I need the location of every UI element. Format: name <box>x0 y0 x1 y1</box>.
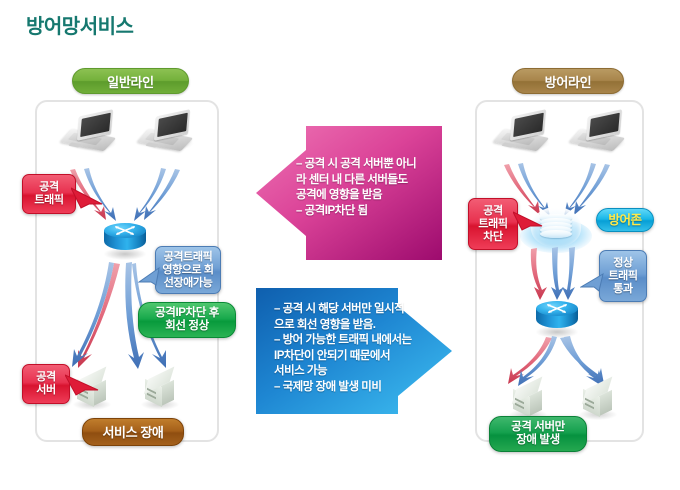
router-arrows-glyph <box>536 301 578 316</box>
callout-tail <box>65 374 101 396</box>
callout-tail <box>138 267 160 287</box>
left-section-header: 일반라인 <box>72 68 189 94</box>
server-icon <box>508 382 548 420</box>
laptop-screen-display <box>157 112 188 136</box>
pill-line: 장애 발생 <box>516 434 560 447</box>
callout-attack-server: 공격 서버 <box>22 364 70 404</box>
callout-tail <box>513 211 545 231</box>
callout-line: 공격 <box>483 205 502 218</box>
callout-line: 영향으로 회 <box>162 264 213 277</box>
callout-line: 공격 <box>36 371 55 384</box>
callout-line: 트래픽 <box>608 270 637 283</box>
banner-text: – 공격 시 해당 서버만 일시적 으로 회선 영향을 받음. – 방어 가능한… <box>274 302 424 395</box>
status-pill-after-ip-block: 공격IP차단 후 회선 정상 <box>138 302 236 338</box>
laptop-icon <box>497 112 553 154</box>
status-pill-service-outage: 서비스 장애 <box>82 418 184 446</box>
server-icon <box>140 372 180 410</box>
callout-tail <box>71 187 105 209</box>
router-icon <box>102 222 148 260</box>
right-section-header: 방어라인 <box>512 68 624 94</box>
banner-text: – 공격 시 공격 서버뿐 아니 라 센터 내 다른 서버들도 공격에 영향을 … <box>296 157 438 219</box>
callout-attack-traffic: 공격 트래픽 <box>22 174 76 214</box>
callout-attack-traffic-blocked: 공격 트래픽 차단 <box>468 198 518 250</box>
callout-line: 공격트래픽 <box>164 251 213 264</box>
pill-line: 서비스 장애 <box>102 426 163 439</box>
page-title: 방어망서비스 <box>26 10 133 39</box>
callout-tail <box>580 273 604 293</box>
callout-line: 정상 <box>613 257 632 270</box>
laptop-screen-display <box>589 112 620 136</box>
pill-line: 공격IP차단 후 <box>155 307 219 320</box>
laptop-icon <box>141 112 197 154</box>
status-pill-attack-server-only-outage: 공격 서버만 장애 발생 <box>489 416 587 452</box>
callout-line: 공격 <box>39 181 58 194</box>
callout-line: 차단 <box>483 231 502 244</box>
laptop-icon <box>573 112 629 154</box>
callout-line: 트래픽 <box>34 194 63 207</box>
diagram-canvas: 방어망서비스 일반라인 <box>0 0 680 490</box>
callout-line: 통과 <box>613 283 632 296</box>
pill-line: 회선 정상 <box>165 320 209 333</box>
laptop-screen-display <box>80 112 111 136</box>
defense-zone-pill: 방어존 <box>596 208 654 232</box>
banner-defense-line-summary: – 공격 시 해당 서버만 일시적 으로 회선 영향을 받음. – 방어 가능한… <box>256 288 452 414</box>
banner-normal-line-summary: – 공격 시 공격 서버뿐 아니 라 센터 내 다른 서버들도 공격에 영향을 … <box>256 126 442 260</box>
callout-line: 트래픽 <box>478 218 507 231</box>
router-icon <box>534 300 580 338</box>
callout-normal-traffic-pass: 정상 트래픽 통과 <box>599 250 647 302</box>
callout-line: 선장애가능 <box>164 277 213 290</box>
callout-line: 서버 <box>36 384 55 397</box>
server-icon <box>578 382 618 420</box>
pill-line: 공격 서버만 <box>511 421 565 434</box>
laptop-screen-display <box>513 112 544 136</box>
callout-line-fault-possible: 공격트래픽 영향으로 회 선장애가능 <box>155 246 221 294</box>
laptop-icon <box>64 112 120 154</box>
appliance-disc <box>540 230 572 238</box>
router-arrows-glyph <box>104 223 146 238</box>
